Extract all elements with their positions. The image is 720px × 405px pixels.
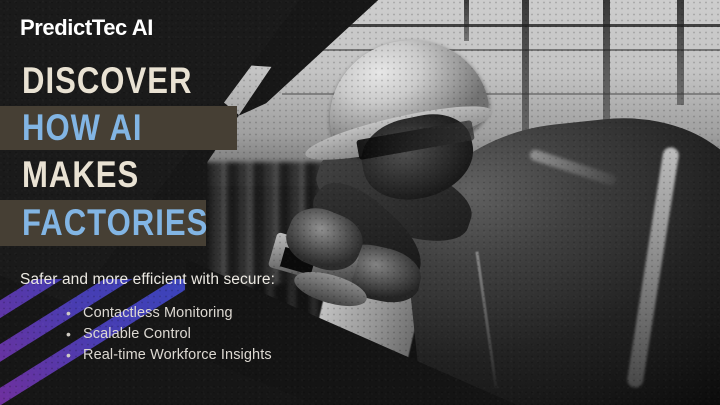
brand-logo: PredictTec AI: [20, 15, 153, 41]
headline-text-factories: FACTORIES: [22, 200, 208, 246]
list-item: Scalable Control: [66, 324, 272, 345]
marketing-slide: PredictTec AI DISCOVER HOW AI MAKES FACT…: [0, 0, 720, 405]
headline-line-4: FACTORIES: [0, 200, 244, 246]
feature-bullet-list: Contactless Monitoring Scalable Control …: [66, 303, 272, 366]
list-item: Contactless Monitoring: [66, 303, 272, 324]
headline-text-makes: MAKES: [22, 152, 139, 198]
slide-content: PredictTec AI DISCOVER HOW AI MAKES FACT…: [0, 0, 720, 405]
headline-line-2: HOW AI: [0, 106, 244, 150]
list-item: Real-time Workforce Insights: [66, 345, 272, 366]
subheadline: Safer and more efficient with secure:: [20, 271, 275, 289]
headline-text-how-ai: HOW AI: [22, 105, 143, 151]
headline-text-discover: DISCOVER: [22, 58, 192, 104]
headline-line-3: MAKES: [0, 152, 244, 198]
headline-line-1: DISCOVER: [0, 58, 244, 104]
headline-block: DISCOVER HOW AI MAKES FACTORIES: [0, 58, 244, 248]
